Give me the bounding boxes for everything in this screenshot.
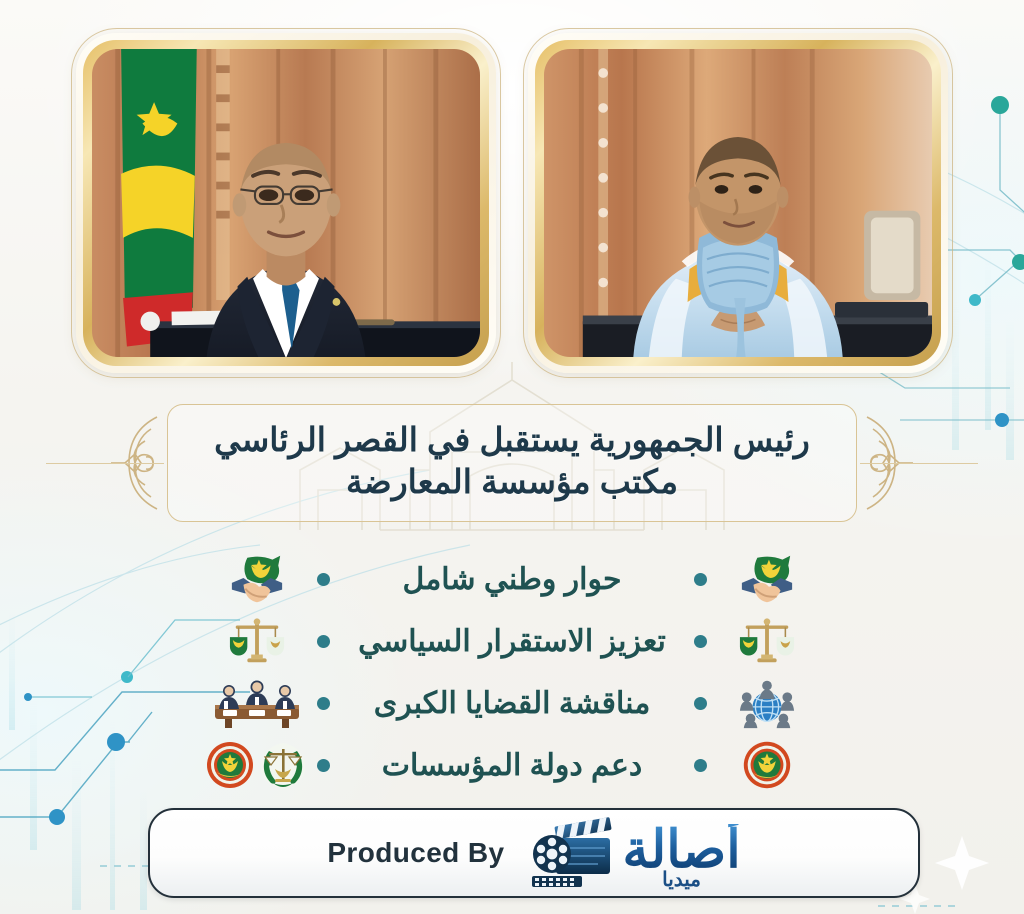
bullet-row: حوار وطني شامل — [0, 548, 1024, 610]
headline-rule-right — [860, 463, 978, 464]
handshake-mauritania-icon — [228, 553, 286, 605]
produced-by-label: Produced By — [327, 837, 504, 869]
meeting-table-icon — [205, 677, 309, 729]
president-photo: رئيس الجمهورية جالس خلف مكتب وبجانبه علم… — [92, 49, 480, 357]
headline-box: رئيس الجمهورية يستقبل في القصر الرئاسي م… — [167, 404, 857, 522]
globe-roundtable-icon — [738, 677, 796, 729]
opposition-leader-photo-frame: رئيس مؤسسة المعارضة يجلس خلف مكتب بالزي … — [528, 33, 948, 373]
infographic-canvas: رئيس الجمهورية جالس خلف مكتب وبجانبه علم… — [0, 0, 1024, 914]
president-photo-frame: رئيس الجمهورية جالس خلف مكتب وبجانبه علم… — [76, 33, 496, 373]
scales-justice-icon — [228, 615, 286, 667]
bullet-row: تعزيز الاستقرار السياسي — [0, 610, 1024, 672]
headline-line-2: مكتب مؤسسة المعارضة — [346, 461, 678, 503]
bullet-dot-left — [317, 635, 330, 648]
bullet-dot-right — [694, 697, 707, 710]
film-clapperboard-reel-icon — [530, 816, 616, 890]
mauritania-flag — [121, 49, 197, 347]
bullet-text: مناقشة القضايا الكبرى — [346, 686, 678, 721]
mauritania-emblem-icon — [738, 739, 796, 791]
headline-rule-left — [46, 463, 164, 464]
bullet-dot-left — [317, 697, 330, 710]
bullet-text: دعم دولة المؤسسات — [346, 748, 678, 783]
bullet-list: حوار وطني شامل — [0, 548, 1024, 796]
bullet-dot-right — [694, 759, 707, 772]
brand-logo: أصالة ميديا — [530, 816, 740, 890]
headline-line-1: رئيس الجمهورية يستقبل في القصر الرئاسي — [214, 419, 810, 461]
opposition-leader-photo: رئيس مؤسسة المعارضة يجلس خلف مكتب بالزي … — [544, 49, 932, 357]
bullet-dot-left — [317, 573, 330, 586]
headline-block: رئيس الجمهورية يستقبل في القصر الرئاسي م… — [0, 398, 1024, 528]
bullet-row: مناقشة القضايا الكبرى — [0, 672, 1024, 734]
bullet-dot-right — [694, 635, 707, 648]
bullet-dot-right — [694, 573, 707, 586]
brand-subtitle: ميديا — [662, 870, 701, 890]
bullet-text: حوار وطني شامل — [346, 562, 678, 597]
handshake-mauritania-icon — [738, 553, 796, 605]
bullet-row: دعم دولة المؤسسات — [0, 734, 1024, 796]
bullet-text: تعزيز الاستقرار السياسي — [346, 624, 678, 659]
photo-row: رئيس الجمهورية جالس خلف مكتب وبجانبه علم… — [0, 33, 1024, 383]
footer-bar: Produced By — [148, 808, 920, 898]
bullet-dot-left — [317, 759, 330, 772]
decor-node — [49, 809, 65, 825]
state-emblems-icon — [205, 739, 309, 791]
scales-justice-icon — [738, 615, 796, 667]
